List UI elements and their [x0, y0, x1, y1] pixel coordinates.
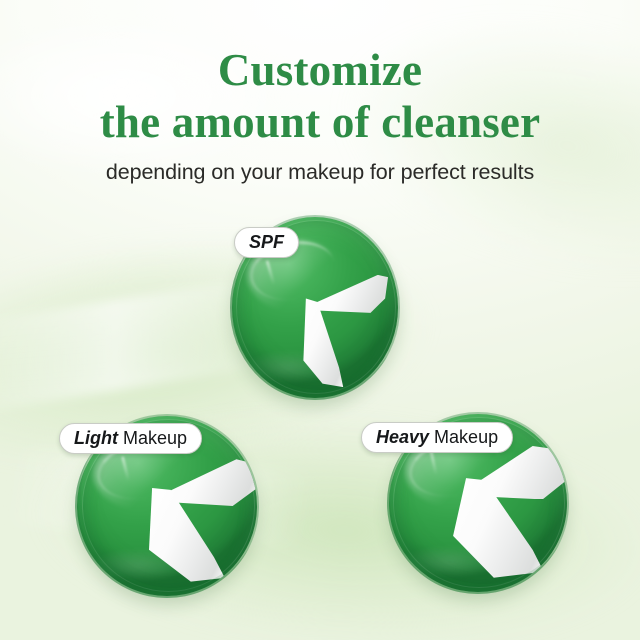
- cleanser-wedge-upper: [315, 275, 388, 313]
- cleanser-wedge-upper: [163, 459, 257, 506]
- badge-light-makeup[interactable]: Light Makeup: [59, 423, 202, 454]
- cleanser-wedge-lower: [303, 298, 345, 387]
- badge-rest-light: Makeup: [118, 428, 187, 448]
- disc-tick-mark: [429, 450, 437, 475]
- badge-spf[interactable]: SPF: [234, 227, 299, 258]
- badge-emphasis-heavy: Heavy: [376, 427, 429, 447]
- page-title-line-1: Customize: [0, 44, 640, 96]
- page-subtitle: depending on your makeup for perfect res…: [0, 160, 640, 185]
- page-title: Customize the amount of cleanser: [0, 44, 640, 148]
- badge-emphasis-light: Light: [74, 428, 118, 448]
- promo-graphic: Customize the amount of cleanser dependi…: [0, 0, 640, 640]
- disc-tick-mark: [121, 456, 130, 481]
- page-title-line-2: the amount of cleanser: [0, 96, 640, 148]
- badge-rest-heavy: Makeup: [429, 427, 498, 447]
- badge-heavy-makeup[interactable]: Heavy Makeup: [361, 422, 513, 453]
- disc-tick-mark: [265, 261, 275, 286]
